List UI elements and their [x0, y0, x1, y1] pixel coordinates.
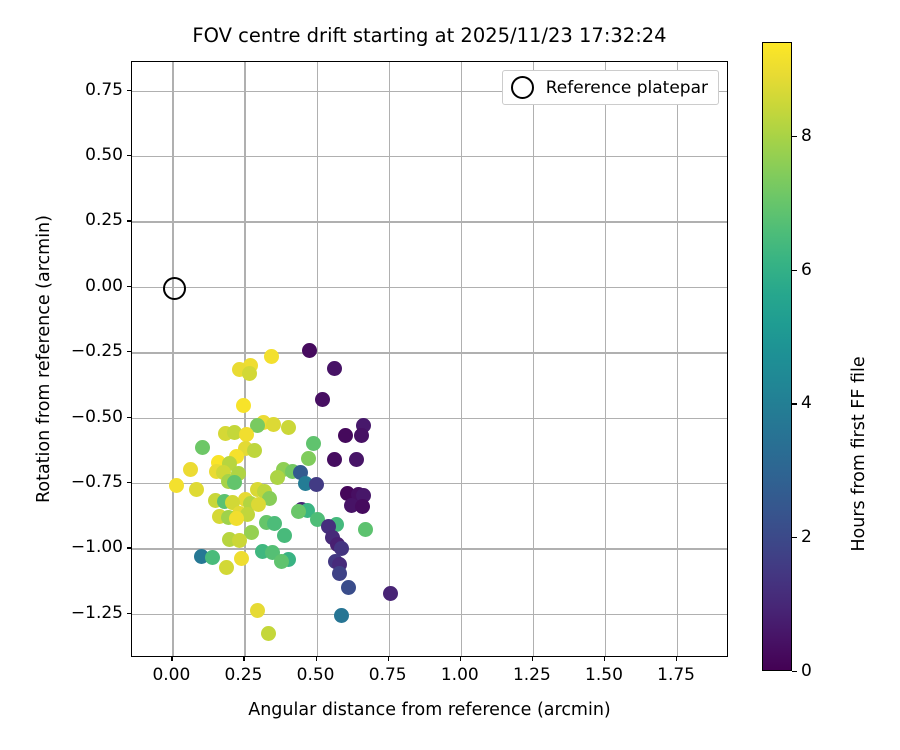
x-tick [532, 657, 533, 661]
scatter-point[interactable] [341, 580, 356, 595]
scatter-point[interactable] [306, 436, 321, 451]
scatter-point[interactable] [227, 475, 242, 490]
x-tick [243, 657, 244, 661]
scatter-point[interactable] [354, 428, 369, 443]
scatter-point[interactable] [383, 586, 398, 601]
x-tick [676, 657, 677, 661]
legend-item-label: Reference platepar [546, 78, 708, 98]
x-tick [460, 657, 461, 661]
scatter-point[interactable] [261, 626, 276, 641]
x-tick-label: 0.25 [225, 665, 263, 685]
scatter-point[interactable] [205, 550, 220, 565]
colorbar-tick-label: 4 [801, 393, 812, 413]
y-tick-label: 0.75 [85, 80, 123, 100]
colorbar-tick [792, 403, 797, 404]
y-tick [127, 482, 131, 483]
y-tick [127, 351, 131, 352]
scatter-point[interactable] [250, 603, 265, 618]
scatter-point[interactable] [315, 392, 330, 407]
y-axis-label: Rotation from reference (arcmin) [34, 215, 54, 503]
plot-axes: Reference platepar [131, 61, 728, 657]
scatter-point[interactable] [189, 482, 204, 497]
scatter-point[interactable] [169, 478, 184, 493]
scatter-point[interactable] [270, 470, 285, 485]
y-tick-label: 0.00 [85, 276, 123, 296]
y-tick [127, 417, 131, 418]
y-tick-label: 0.50 [85, 145, 123, 165]
scatter-point[interactable] [247, 443, 262, 458]
scatter-point[interactable] [277, 528, 292, 543]
colorbar: 02468 [762, 42, 792, 671]
scatter-point[interactable] [219, 560, 234, 575]
colorbar-tick-label: 2 [801, 527, 812, 547]
colorbar-label: Hours from first FF file [849, 356, 869, 551]
scatter-point[interactable] [334, 608, 349, 623]
scatter-plot-area[interactable] [132, 62, 727, 656]
y-tick [127, 613, 131, 614]
scatter-point[interactable] [301, 451, 316, 466]
x-tick [171, 657, 172, 661]
y-tick-label: −0.50 [71, 407, 123, 427]
x-tick-label: 1.50 [585, 665, 623, 685]
x-tick [604, 657, 605, 661]
scatter-point[interactable] [242, 366, 257, 381]
scatter-point[interactable] [266, 417, 281, 432]
colorbar-gradient [762, 42, 792, 671]
scatter-point[interactable] [274, 554, 289, 569]
x-tick-label: 1.75 [657, 665, 695, 685]
legend[interactable]: Reference platepar [502, 70, 719, 105]
y-tick [127, 547, 131, 548]
scatter-point[interactable] [232, 533, 247, 548]
scatter-point[interactable] [327, 361, 342, 376]
x-tick-label: 1.00 [441, 665, 479, 685]
scatter-point[interactable] [302, 343, 317, 358]
x-tick [316, 657, 317, 661]
scatter-point[interactable] [236, 398, 251, 413]
scatter-point[interactable] [281, 420, 296, 435]
scatter-point[interactable] [229, 511, 244, 526]
x-axis-label: Angular distance from reference (arcmin) [131, 700, 728, 720]
colorbar-tick [792, 537, 797, 538]
y-tick [127, 220, 131, 221]
x-tick-label: 1.25 [513, 665, 551, 685]
scatter-point[interactable] [234, 551, 249, 566]
y-tick-label: −1.00 [71, 537, 123, 557]
x-tick-label: 0.75 [369, 665, 407, 685]
y-tick [127, 155, 131, 156]
y-tick-label: −0.75 [71, 472, 123, 492]
colorbar-tick-label: 8 [801, 126, 812, 146]
colorbar-tick-label: 0 [801, 661, 812, 681]
page-title: FOV centre drift starting at 2025/11/23 … [131, 25, 728, 46]
y-tick-label: 0.25 [85, 210, 123, 230]
scatter-point[interactable] [309, 477, 324, 492]
scatter-point[interactable] [349, 452, 364, 467]
scatter-point[interactable] [327, 452, 342, 467]
x-tick [388, 657, 389, 661]
reference-platepar-marker[interactable] [163, 277, 186, 300]
x-tick-label: 0.50 [297, 665, 335, 685]
scatter-point[interactable] [355, 499, 370, 514]
y-tick-label: −0.25 [71, 341, 123, 361]
y-tick-label: −1.25 [71, 603, 123, 623]
colorbar-tick [792, 136, 797, 137]
scatter-point[interactable] [264, 349, 279, 364]
colorbar-tick-label: 6 [801, 260, 812, 280]
scatter-point[interactable] [239, 427, 254, 442]
scatter-point[interactable] [195, 440, 210, 455]
reference-platepar-icon [511, 76, 534, 99]
y-tick [127, 90, 131, 91]
colorbar-tick [792, 671, 797, 672]
scatter-point[interactable] [183, 462, 198, 477]
x-tick-label: 0.00 [152, 665, 190, 685]
scatter-point[interactable] [338, 428, 353, 443]
y-tick [127, 286, 131, 287]
colorbar-tick [792, 270, 797, 271]
scatter-point[interactable] [358, 522, 373, 537]
scatter-point[interactable] [332, 566, 347, 581]
figure: FOV centre drift starting at 2025/11/23 … [0, 0, 900, 750]
scatter-point[interactable] [291, 504, 306, 519]
